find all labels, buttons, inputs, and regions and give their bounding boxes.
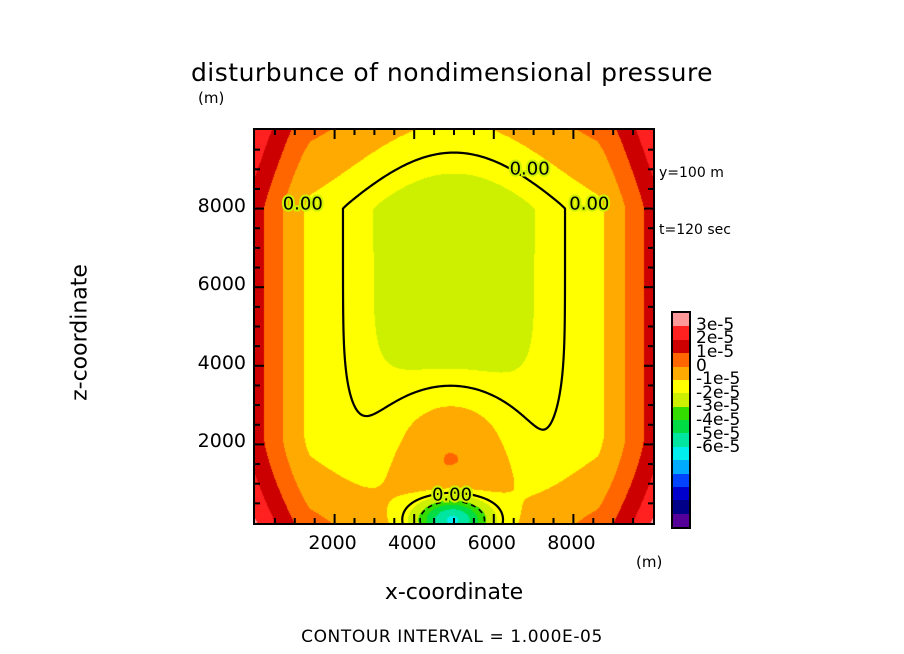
x-tick-label: 6000 [447,532,537,554]
annotation-y-value: y=100 m [659,164,731,183]
colorbar-swatch [673,500,689,513]
y-tick-label: 2000 [186,430,246,452]
x-tick-label: 2000 [288,532,378,554]
y-axis-ticks: 2000400060008000 [178,128,246,525]
colorbar-swatch [673,420,689,433]
contour-line-zero [343,153,565,430]
colorbar-swatch [673,474,689,487]
contour-lines-overlay: 0.000.000.000.00 [255,130,653,523]
x-tick-label: 8000 [526,532,616,554]
y-tick-label: 8000 [186,195,246,217]
colorbar-swatch [673,313,689,326]
x-axis-ticks: 2000400060008000 [253,532,655,558]
colorbar-swatch [673,433,689,446]
x-axis-title: x-coordinate [253,580,655,605]
colorbar-swatch [673,326,689,339]
svg-text:0.00: 0.00 [283,194,323,215]
contour-value-label: 0.00 [428,483,476,506]
title-units-label: (m) [198,89,224,107]
colorbar-swatch [673,380,689,393]
x-axis-units-label: (m) [636,553,662,571]
svg-text:0.00: 0.00 [432,485,472,506]
case-annotation: y=100 m t=120 sec [659,126,731,259]
y-axis-title: z-coordinate [68,193,93,473]
contour-value-label: 0.00 [506,156,554,179]
colorbar-swatch [673,514,689,527]
colorbar-tick-label: -6e-5 [696,437,786,457]
colorbar-swatch [673,447,689,460]
colorbar-swatch [673,407,689,420]
annotation-t-value: t=120 sec [659,221,731,240]
colorbar-swatch [673,353,689,366]
contour-value-label: 0.00 [565,192,613,215]
contour-interval-note: CONTOUR INTERVAL = 1.000E-05 [0,627,904,647]
colorbar-swatch [673,340,689,353]
page-title: disturbunce of nondimensional pressure [0,58,904,87]
colorbar-swatch [673,393,689,406]
y-tick-label: 6000 [186,273,246,295]
colorbar-swatch [673,487,689,500]
y-tick-label: 4000 [186,352,246,374]
colorbar[interactable] [671,311,691,529]
colorbar-swatch [673,367,689,380]
contour-value-label: 0.00 [279,192,327,215]
svg-text:0.00: 0.00 [569,194,609,215]
colorbar-tick-labels: 3e-52e-51e-50-1e-5-2e-5-3e-5-4e-5-5e-5-6… [696,311,786,529]
colorbar-swatch [673,460,689,473]
x-tick-label: 4000 [367,532,457,554]
svg-text:0.00: 0.00 [510,158,550,179]
contour-plot-area[interactable]: 0.000.000.000.00 [253,128,655,525]
